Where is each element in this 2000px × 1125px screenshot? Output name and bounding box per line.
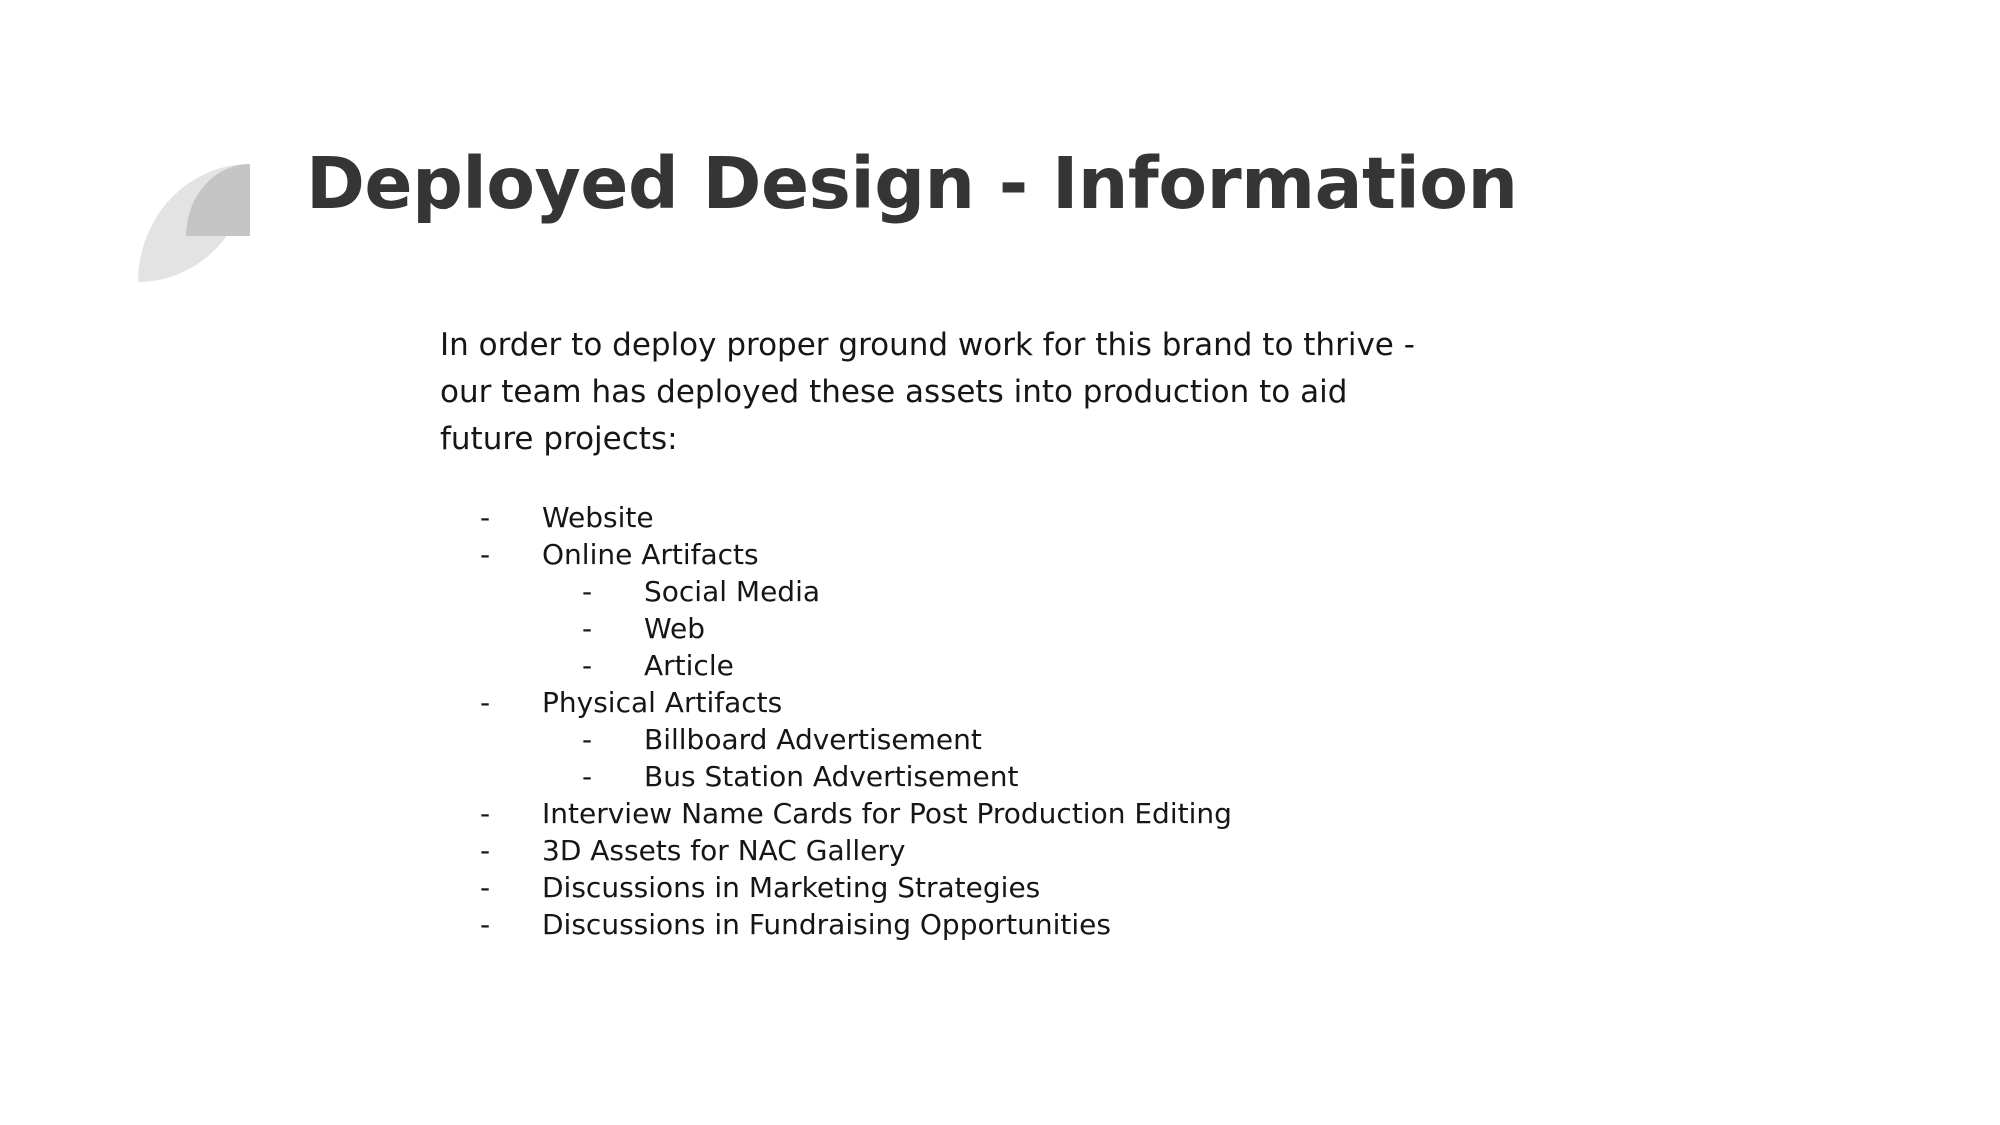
slide-canvas: Deployed Design - Information In order t… [0, 0, 2000, 1125]
intro-line: In order to deploy proper ground work fo… [440, 322, 1565, 369]
bullet-dash: - [582, 573, 644, 610]
list-item-label: Article [644, 647, 734, 684]
list-item: - Online Artifacts [480, 536, 1620, 573]
slide-body: In order to deploy proper ground work fo… [440, 322, 1620, 943]
page-title: Deployed Design - Information [306, 148, 1518, 219]
bullet-dash: - [480, 795, 542, 832]
bullet-dash: - [582, 647, 644, 684]
list-item-label: Discussions in Marketing Strategies [542, 869, 1040, 906]
bullet-dash: - [480, 906, 542, 943]
bullet-dash: - [480, 832, 542, 869]
bullet-dash: - [480, 499, 542, 536]
bullet-dash: - [480, 869, 542, 906]
list-item: - 3D Assets for NAC Gallery [480, 832, 1620, 869]
bullet-dash: - [480, 536, 542, 573]
list-item: - Discussions in Fundraising Opportuniti… [480, 906, 1620, 943]
list-item: - Article [582, 647, 1620, 684]
deployed-assets-list: - Website - Online Artifacts - Social Me… [440, 499, 1620, 943]
list-item: - Interview Name Cards for Post Producti… [480, 795, 1620, 832]
list-item: - Website [480, 499, 1620, 536]
list-item-label: Interview Name Cards for Post Production… [542, 795, 1232, 832]
list-item: - Physical Artifacts [480, 684, 1620, 721]
list-item: - Discussions in Marketing Strategies [480, 869, 1620, 906]
intro-line: our team has deployed these assets into … [440, 369, 1565, 416]
intro-paragraph: In order to deploy proper ground work fo… [440, 322, 1565, 463]
bullet-dash: - [480, 684, 542, 721]
accent-dark-block [186, 164, 250, 236]
list-item-label: Website [542, 499, 654, 536]
list-item: - Web [582, 610, 1620, 647]
list-item: - Bus Station Advertisement [582, 758, 1620, 795]
list-item: - Billboard Advertisement [582, 721, 1620, 758]
list-item-label: Discussions in Fundraising Opportunities [542, 906, 1111, 943]
list-item-label: Bus Station Advertisement [644, 758, 1018, 795]
bullet-dash: - [582, 758, 644, 795]
list-item-label: Online Artifacts [542, 536, 759, 573]
intro-line: future projects: [440, 416, 1565, 463]
list-item-label: 3D Assets for NAC Gallery [542, 832, 905, 869]
bullet-dash: - [582, 721, 644, 758]
list-item-label: Physical Artifacts [542, 684, 782, 721]
list-item-label: Web [644, 610, 705, 647]
bullet-dash: - [582, 610, 644, 647]
list-item: - Social Media [582, 573, 1620, 610]
quarter-circle-accent-icon [138, 158, 250, 282]
list-item-label: Billboard Advertisement [644, 721, 982, 758]
list-item-label: Social Media [644, 573, 820, 610]
